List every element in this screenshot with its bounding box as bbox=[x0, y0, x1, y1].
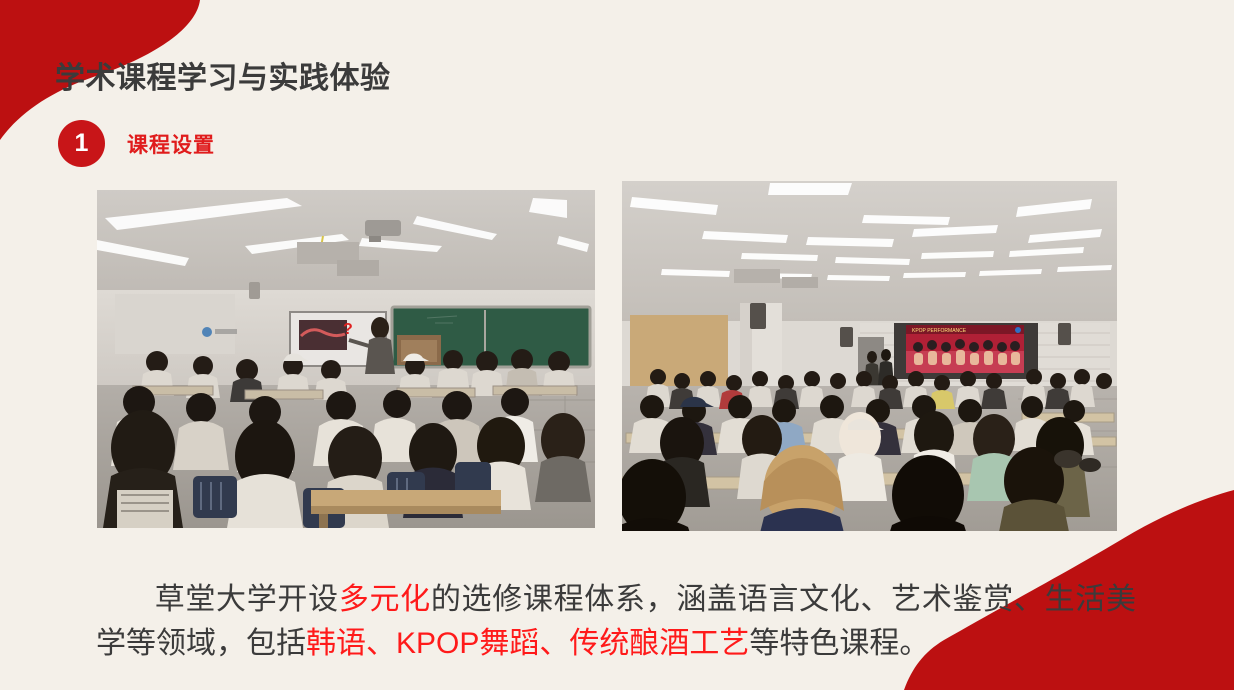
svg-text:?: ? bbox=[343, 321, 353, 338]
step-number-badge: 1 bbox=[58, 120, 105, 167]
lecture-hall-photo: KPOP PERFORMANCE bbox=[622, 181, 1117, 531]
lecture-hall-illustration: KPOP PERFORMANCE bbox=[622, 181, 1117, 531]
page-title: 学术课程学习与实践体验 bbox=[55, 62, 955, 97]
body-separator-1: 、 bbox=[366, 627, 396, 660]
body-highlight-traditional-brewing: 传统酿酒工艺 bbox=[569, 627, 749, 660]
classroom-lecture-illustration: ? bbox=[97, 190, 595, 528]
slide-canvas: 学术课程学习与实践体验 1 课程设置 bbox=[0, 0, 1234, 690]
body-paragraph: 草堂大学开设多元化的选修课程体系，涵盖语言文化、艺术鉴赏、生活美学等领域，包括韩… bbox=[96, 578, 1136, 665]
subheading-label: 课程设置 bbox=[127, 129, 215, 159]
classroom-lecture-photo: ? bbox=[97, 190, 595, 528]
body-line2-part2: 等特色课程。 bbox=[749, 627, 929, 660]
title-block: 学术课程学习与实践体验 bbox=[55, 62, 955, 97]
body-separator-2: 、 bbox=[539, 627, 569, 660]
body-line1-part2: 的选修课程体系，涵盖语言文化、艺术鉴赏、生活 bbox=[431, 583, 1106, 616]
body-highlight-kpop-dance: KPOP舞蹈 bbox=[396, 627, 539, 660]
top-left-red-swoosh-decoration bbox=[0, 0, 420, 200]
body-highlight-korean: 韩语 bbox=[306, 627, 366, 660]
stage-screen: KPOP PERFORMANCE bbox=[906, 325, 1024, 373]
body-highlight-diversified: 多元化 bbox=[339, 583, 431, 616]
body-line1-part1: 草堂大学开设 bbox=[154, 583, 339, 616]
svg-text:KPOP PERFORMANCE: KPOP PERFORMANCE bbox=[912, 328, 967, 334]
subheading-row: 1 课程设置 bbox=[58, 120, 215, 167]
